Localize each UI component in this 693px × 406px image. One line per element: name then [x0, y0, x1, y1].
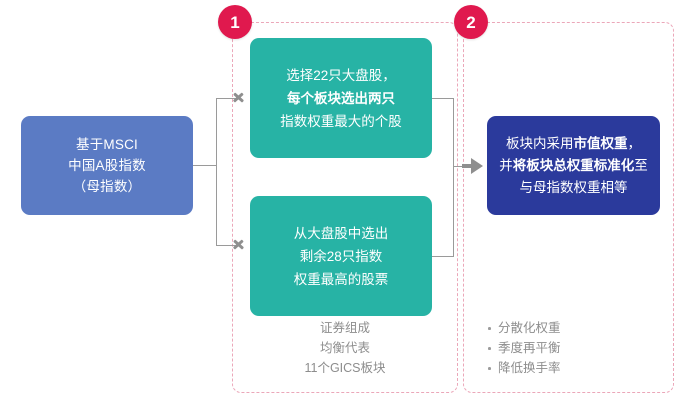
parent-index-line-2: 中国A股指数	[68, 155, 146, 176]
weighting-line-2-tail: 至	[634, 158, 648, 173]
parent-index-line-3: （母指数）	[73, 176, 142, 197]
list-item: 季度再平衡	[487, 338, 667, 358]
step-1-caption-line-1: 证券组成	[232, 318, 458, 338]
weighting-line-2: 并将板块总权重标准化至	[499, 155, 648, 177]
large-cap-line-1: 选择22只大盘股，	[286, 64, 396, 87]
connector-parent-output	[193, 165, 217, 166]
node-parent-index: 基于MSCI 中国A股指数 （母指数）	[21, 116, 193, 215]
step-1-caption-line-3: 11个GICS板块	[232, 358, 458, 378]
large-cap-line-2-bold: 每个板块选出两只	[287, 87, 395, 110]
remaining-line-2: 剩余28只指数	[300, 245, 383, 268]
node-large-cap-selection: 选择22只大盘股， 每个板块选出两只 指数权重最大的个股	[250, 38, 432, 158]
step-2-badge: 2	[454, 5, 488, 39]
parent-index-line-1: 基于MSCI	[76, 134, 138, 155]
list-item: 分散化权重	[487, 318, 667, 338]
arrow-right-icon-to-weighting	[471, 158, 483, 174]
list-item: 降低换手率	[487, 358, 667, 378]
weighting-line-1: 板块内采用市值权重，	[506, 133, 641, 155]
remaining-line-3: 权重最高的股票	[294, 268, 389, 291]
connector-large-cap-output	[432, 98, 454, 99]
weighting-line-1-tail: ，	[628, 136, 642, 151]
diagram-canvas: 1 2 基于MSCI 中国A股指数 （母指数） 选择22只大盘股， 每个板块选出…	[0, 0, 693, 406]
step-2-caption-list: 分散化权重 季度再平衡 降低换手率	[487, 318, 667, 378]
step-1-caption: 证券组成 均衡代表 11个GICS板块	[232, 318, 458, 378]
connector-split-vertical	[216, 98, 217, 246]
arrow-right-icon-to-large-cap	[234, 89, 245, 107]
step-1-badge: 1	[218, 5, 252, 39]
connector-remaining-output	[432, 256, 454, 257]
weighting-line-2-bold: 将板块总权重标准化	[513, 158, 635, 173]
weighting-line-1-normal: 板块内采用	[506, 136, 574, 151]
node-remaining-selection: 从大盘股中选出 剩余28只指数 权重最高的股票	[250, 196, 432, 316]
weighting-line-3: 与母指数权重相等	[520, 177, 628, 199]
remaining-line-1: 从大盘股中选出	[294, 222, 389, 245]
step-1-caption-line-2: 均衡代表	[232, 338, 458, 358]
weighting-line-1-bold: 市值权重	[574, 136, 628, 151]
node-weighting-scheme: 板块内采用市值权重， 并将板块总权重标准化至 与母指数权重相等	[487, 116, 660, 215]
weighting-line-2-normal: 并	[499, 158, 513, 173]
arrow-right-icon-to-remaining	[234, 236, 245, 254]
large-cap-line-3: 指数权重最大的个股	[280, 110, 402, 133]
connector-merge-vertical	[453, 98, 454, 257]
